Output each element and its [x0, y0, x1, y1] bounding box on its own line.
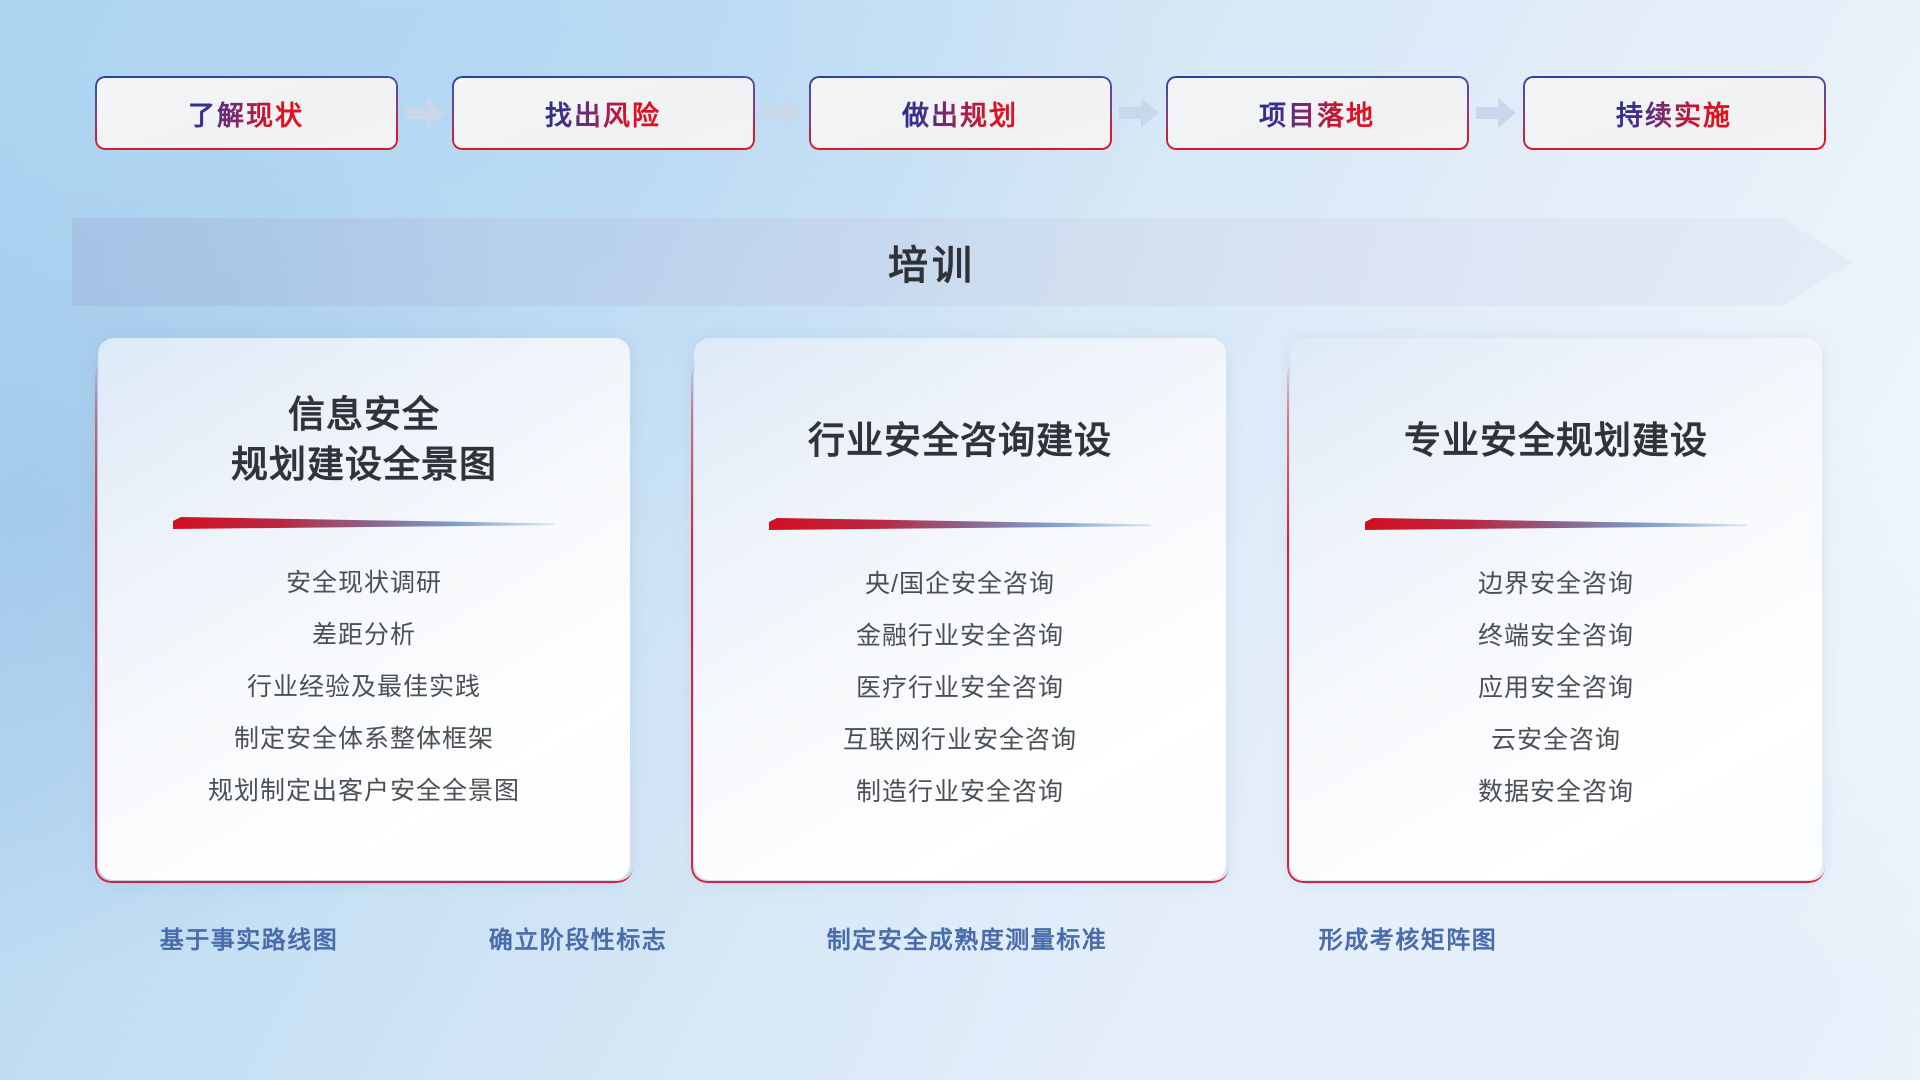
card-title: 信息安全 规划建设全景图 — [231, 390, 497, 489]
arrow-right-icon — [1112, 98, 1166, 128]
list-item: 医疗行业安全咨询 — [856, 668, 1064, 704]
step-box-4[interactable]: 持续实施 — [1523, 76, 1826, 150]
step-box-3[interactable]: 项目落地 — [1166, 76, 1469, 150]
list-item: 制定安全体系整体框架 — [234, 719, 494, 755]
list-item: 安全现状调研 — [286, 563, 442, 599]
list-item: 终端安全咨询 — [1478, 616, 1634, 652]
card-title: 行业安全咨询建设 — [808, 416, 1112, 466]
divider-icon — [1365, 518, 1747, 534]
step-box-2[interactable]: 做出规划 — [809, 76, 1112, 150]
card-title: 专业安全规划建设 — [1404, 416, 1708, 466]
step-box-1[interactable]: 找出风险 — [452, 76, 755, 150]
card-list: 安全现状调研 差距分析 行业经验及最佳实践 制定安全体系整体框架 规划制定出客户… — [208, 563, 520, 807]
card-list: 边界安全咨询 终端安全咨询 应用安全咨询 云安全咨询 数据安全咨询 — [1478, 564, 1634, 808]
list-item: 边界安全咨询 — [1478, 564, 1634, 600]
list-item: 应用安全咨询 — [1478, 668, 1634, 704]
list-item: 制造行业安全咨询 — [856, 772, 1064, 808]
step-label: 找出风险 — [545, 94, 661, 133]
list-item: 云安全咨询 — [1491, 720, 1621, 756]
footer-label-row: 基于事实路线图 确立阶段性标志 制定安全成熟度测量标准 形成考核矩阵图 — [0, 920, 1920, 964]
arrow-right-icon — [398, 98, 452, 128]
arrow-right-icon — [755, 98, 809, 128]
list-item: 规划制定出客户安全全景图 — [208, 771, 520, 807]
card-group: 信息安全 规划建设全景图 安全现状调研 — [0, 338, 1920, 880]
step-label: 做出规划 — [902, 94, 1018, 133]
step-label: 项目落地 — [1259, 94, 1375, 133]
divider-icon — [769, 518, 1151, 534]
footer-label-3: 形成考核矩阵图 — [1319, 920, 1498, 955]
footer-label-1: 确立阶段性标志 — [489, 920, 668, 955]
process-steps: 了解现状 找出风险 做出规划 项目落地 持续实施 — [0, 76, 1920, 150]
list-item: 数据安全咨询 — [1478, 772, 1634, 808]
step-box-0[interactable]: 了解现状 — [95, 76, 398, 150]
card-0[interactable]: 信息安全 规划建设全景图 安全现状调研 — [98, 338, 630, 880]
card-1[interactable]: 行业安全咨询建设 央/国企安全咨询 — [694, 338, 1226, 880]
footer-label-0: 基于事实路线图 — [160, 920, 339, 955]
list-item: 央/国企安全咨询 — [865, 564, 1055, 600]
card-list: 央/国企安全咨询 金融行业安全咨询 医疗行业安全咨询 互联网行业安全咨询 制造行… — [843, 564, 1077, 808]
list-item: 行业经验及最佳实践 — [247, 667, 481, 703]
list-item: 差距分析 — [312, 615, 416, 651]
training-banner: 培训 — [72, 218, 1852, 306]
arrow-right-icon — [1469, 98, 1523, 128]
card-2[interactable]: 专业安全规划建设 边界安全咨询 — [1290, 338, 1822, 880]
list-item: 互联网行业安全咨询 — [843, 720, 1077, 756]
divider-icon — [173, 517, 555, 533]
footer-label-2: 制定安全成熟度测量标准 — [827, 920, 1108, 955]
step-label: 了解现状 — [188, 94, 304, 133]
list-item: 金融行业安全咨询 — [856, 616, 1064, 652]
step-label: 持续实施 — [1616, 94, 1732, 133]
banner-title: 培训 — [72, 218, 1852, 306]
